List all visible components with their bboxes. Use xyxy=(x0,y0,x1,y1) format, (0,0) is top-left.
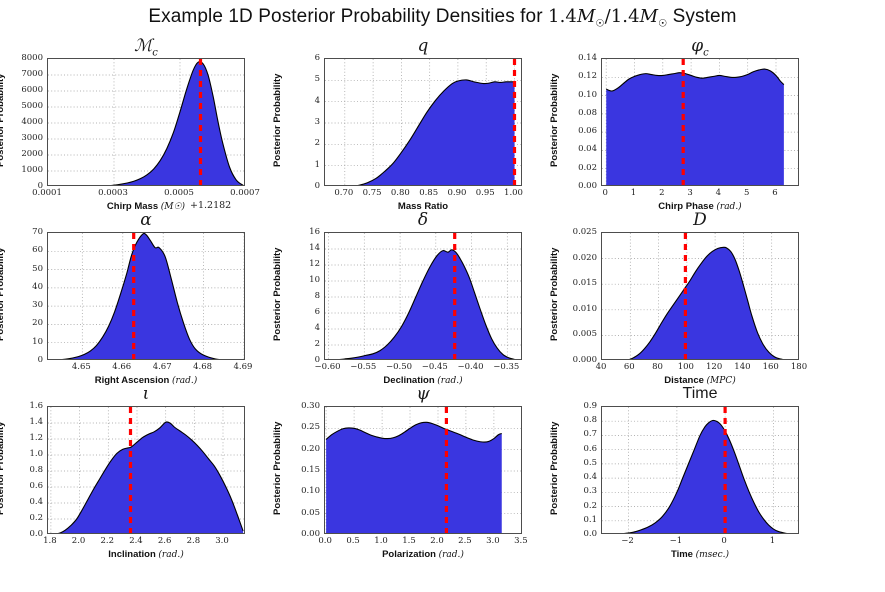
x-tick-label: 0.5 xyxy=(346,536,360,546)
x-tick-label: −0.60 xyxy=(315,362,341,372)
x-axis-label: Right Ascension (rad.) xyxy=(47,375,245,386)
y-tick-label: 0.4 xyxy=(559,472,597,482)
x-tick-label: 40 xyxy=(596,362,607,372)
y-tick-label: 0.7 xyxy=(559,429,597,439)
x-tick-label: 60 xyxy=(624,362,635,372)
y-tick-label: 1 xyxy=(282,160,320,170)
x-axis-label: Inclination (rad.) xyxy=(47,549,245,560)
plot-area xyxy=(47,58,245,186)
y-tick-label: 0.05 xyxy=(282,508,320,518)
x-tick-label: 120 xyxy=(706,362,722,372)
x-tick-label: 1 xyxy=(770,536,775,546)
y-tick-label: 0.9 xyxy=(559,401,597,411)
x-axis-label: Mass Ratio xyxy=(324,201,522,212)
x-tick-label: 0 xyxy=(603,188,608,198)
y-tick-label: 0.06 xyxy=(559,126,597,136)
y-axis-label: Posterior Probability xyxy=(549,248,560,341)
x-tick-label: 4.65 xyxy=(72,362,91,372)
x-tick-label: −0.40 xyxy=(458,362,484,372)
plot-area xyxy=(324,58,522,186)
y-tick-label: 1.6 xyxy=(5,401,43,411)
y-tick-label: 0.010 xyxy=(559,304,597,314)
x-tick-label: 0.0007 xyxy=(230,188,260,198)
x-tick-label: 4.67 xyxy=(153,362,172,372)
x-axis-label: Distance (MPC) xyxy=(601,375,799,386)
y-tick-label: 0.30 xyxy=(282,401,320,411)
plot-area xyxy=(324,232,522,360)
y-tick-label: 0.04 xyxy=(559,144,597,154)
x-tick-label: 3.5 xyxy=(514,536,528,546)
panel-title: Time xyxy=(601,386,799,402)
y-tick-label: 0 xyxy=(5,181,43,191)
figure-canvas: Example 1D Posterior Probability Densiti… xyxy=(0,0,885,592)
y-tick-label: 40 xyxy=(5,282,43,292)
y-tick-label: 16 xyxy=(282,227,320,237)
y-tick-label: 0.2 xyxy=(5,513,43,523)
x-tick-label: 3 xyxy=(687,188,692,198)
y-tick-label: 0.12 xyxy=(559,71,597,81)
y-tick-label: 0.000 xyxy=(559,355,597,365)
x-tick-label: 4.68 xyxy=(193,362,212,372)
y-axis-label: Posterior Probability xyxy=(0,422,6,515)
y-tick-label: 0.25 xyxy=(282,422,320,432)
y-tick-label: 8000 xyxy=(5,53,43,63)
x-tick-label: 2.5 xyxy=(458,536,472,546)
x-tick-label: 6 xyxy=(772,188,777,198)
x-tick-label: 2.0 xyxy=(72,536,86,546)
x-tick-label: 2 xyxy=(659,188,664,198)
y-tick-label: 0.4 xyxy=(5,497,43,507)
y-tick-label: 0.6 xyxy=(5,481,43,491)
x-tick-label: −0.35 xyxy=(493,362,519,372)
panel-right-ascension: α0102030405060704.654.664.674.684.69Post… xyxy=(0,0,885,592)
x-tick-label: 160 xyxy=(763,362,779,372)
y-tick-label: 0.00 xyxy=(559,181,597,191)
y-tick-label: 0.15 xyxy=(282,465,320,475)
x-tick-label: 0.90 xyxy=(447,188,466,198)
x-tick-label: 100 xyxy=(678,362,694,372)
panel-declination: δ0246810121416−0.60−0.55−0.50−0.45−0.40−… xyxy=(0,0,885,592)
y-axis-label: Posterior Probability xyxy=(272,74,283,167)
y-tick-label: 0.0 xyxy=(5,529,43,539)
y-tick-label: 0.02 xyxy=(559,163,597,173)
y-tick-label: 0 xyxy=(282,355,320,365)
panel-title: D xyxy=(601,212,799,229)
y-tick-label: 0.020 xyxy=(559,253,597,263)
y-axis-label: Posterior Probability xyxy=(272,422,283,515)
panel-title: ℳc xyxy=(47,38,245,58)
plot-area xyxy=(601,232,799,360)
x-tick-label: 2.4 xyxy=(129,536,143,546)
y-tick-label: 0.0 xyxy=(559,529,597,539)
y-axis-label: Posterior Probability xyxy=(549,74,560,167)
y-tick-label: 0.015 xyxy=(559,278,597,288)
x-tick-label: 1.8 xyxy=(43,536,57,546)
y-tick-label: 1.2 xyxy=(5,433,43,443)
x-tick-label: 2.6 xyxy=(158,536,172,546)
panel-title: ι xyxy=(47,386,245,403)
figure-title-post: System xyxy=(667,6,736,27)
x-tick-label: 80 xyxy=(652,362,663,372)
x-tick-label: 0.80 xyxy=(391,188,410,198)
y-tick-label: 0.10 xyxy=(559,90,597,100)
x-tick-label: 0.95 xyxy=(476,188,495,198)
y-tick-label: 1.4 xyxy=(5,417,43,427)
y-tick-label: 0 xyxy=(282,181,320,191)
x-tick-label: 2.2 xyxy=(100,536,114,546)
y-tick-label: 5000 xyxy=(5,101,43,111)
panel-time: Time0.00.10.20.30.40.50.60.70.80.9−2−101… xyxy=(0,0,885,592)
y-tick-label: 70 xyxy=(5,227,43,237)
x-tick-label: −0.55 xyxy=(350,362,376,372)
y-tick-label: 0.6 xyxy=(559,444,597,454)
y-tick-label: 0.3 xyxy=(559,486,597,496)
plot-area xyxy=(47,232,245,360)
y-tick-label: 0.2 xyxy=(559,501,597,511)
y-tick-label: 0.00 xyxy=(282,529,320,539)
panel-chirp-phase: φc0.000.020.040.060.080.100.120.14012345… xyxy=(0,0,885,592)
x-tick-label: −2 xyxy=(621,536,634,546)
x-tick-label: 4 xyxy=(716,188,721,198)
x-tick-label: 0.70 xyxy=(334,188,353,198)
panel-title: δ xyxy=(324,212,522,229)
y-tick-label: 0.14 xyxy=(559,53,597,63)
panel-polarization: ψ0.000.050.100.150.200.250.300.00.51.01.… xyxy=(0,0,885,592)
y-tick-label: 4 xyxy=(282,96,320,106)
y-tick-label: 1000 xyxy=(5,165,43,175)
y-tick-label: 2 xyxy=(282,339,320,349)
x-tick-label: 3.0 xyxy=(215,536,229,546)
y-tick-label: 12 xyxy=(282,259,320,269)
plot-area xyxy=(324,406,522,534)
x-tick-label: 0.0005 xyxy=(164,188,194,198)
x-axis-label: Time (msec.) xyxy=(601,549,799,560)
panel-title: α xyxy=(47,212,245,229)
x-axis-label: Chirp Mass (M☉) xyxy=(47,201,245,212)
y-tick-label: 0.005 xyxy=(559,329,597,339)
x-tick-label: 1 xyxy=(631,188,636,198)
panel-title: ψ xyxy=(324,386,522,403)
x-tick-label: 1.0 xyxy=(374,536,388,546)
y-tick-label: 3000 xyxy=(5,133,43,143)
panel-title: q xyxy=(324,38,522,55)
y-tick-label: 1.0 xyxy=(5,449,43,459)
y-tick-label: 14 xyxy=(282,243,320,253)
y-tick-label: 60 xyxy=(5,245,43,255)
y-tick-label: 0.10 xyxy=(282,486,320,496)
x-tick-label: 0.85 xyxy=(419,188,438,198)
y-tick-label: 0.025 xyxy=(559,227,597,237)
panel-chirp-mass: ℳc0100020003000400050006000700080000.000… xyxy=(0,0,885,592)
x-tick-label: 0.0001 xyxy=(32,188,62,198)
y-tick-label: 4000 xyxy=(5,117,43,127)
y-tick-label: 6 xyxy=(282,53,320,63)
x-tick-label: 4.66 xyxy=(112,362,131,372)
panel-title: φc xyxy=(601,38,799,58)
plot-area xyxy=(601,406,799,534)
panel-distance: D0.0000.0050.0100.0150.0200.025406080100… xyxy=(0,0,885,592)
y-tick-label: 8 xyxy=(282,291,320,301)
y-tick-label: 0.8 xyxy=(559,415,597,425)
y-tick-label: 4 xyxy=(282,323,320,333)
plot-area xyxy=(601,58,799,186)
figure-title: Example 1D Posterior Probability Densiti… xyxy=(0,6,885,30)
y-axis-label: Posterior Probability xyxy=(0,248,6,341)
y-tick-label: 30 xyxy=(5,300,43,310)
x-axis-offset: +1.2182 xyxy=(190,200,231,211)
y-axis-label: Posterior Probability xyxy=(272,248,283,341)
x-tick-label: 2.0 xyxy=(430,536,444,546)
y-tick-label: 2000 xyxy=(5,149,43,159)
panel-mass-ratio: q01234560.700.750.800.850.900.951.00Post… xyxy=(0,0,885,592)
x-tick-label: −0.50 xyxy=(386,362,412,372)
y-tick-label: 50 xyxy=(5,264,43,274)
x-tick-label: −1 xyxy=(670,536,683,546)
y-tick-label: 0 xyxy=(5,355,43,365)
x-tick-label: 1.5 xyxy=(402,536,416,546)
y-tick-label: 0.5 xyxy=(559,458,597,468)
y-tick-label: 2 xyxy=(282,138,320,148)
y-tick-label: 10 xyxy=(5,337,43,347)
y-tick-label: 3 xyxy=(282,117,320,127)
x-tick-label: 180 xyxy=(791,362,807,372)
x-axis-label: Polarization (rad.) xyxy=(324,549,522,560)
y-tick-label: 6 xyxy=(282,307,320,317)
x-tick-label: 0.0 xyxy=(318,536,332,546)
y-tick-label: 5 xyxy=(282,74,320,84)
x-tick-label: 4.69 xyxy=(234,362,253,372)
plot-area xyxy=(47,406,245,534)
figure-title-math: 1.4M☉/1.4M☉ xyxy=(548,6,667,27)
x-tick-label: 2.8 xyxy=(187,536,201,546)
x-axis-label: Declination (rad.) xyxy=(324,375,522,386)
y-tick-label: 7000 xyxy=(5,69,43,79)
x-tick-label: 0.75 xyxy=(363,188,382,198)
y-tick-label: 0.20 xyxy=(282,444,320,454)
x-tick-label: 0 xyxy=(721,536,726,546)
y-tick-label: 0.8 xyxy=(5,465,43,475)
x-axis-label: Chirp Phase (rad.) xyxy=(601,201,799,212)
y-tick-label: 0.08 xyxy=(559,108,597,118)
x-tick-label: 5 xyxy=(744,188,749,198)
panel-inclination: ι0.00.20.40.60.81.01.21.41.61.82.02.22.4… xyxy=(0,0,885,592)
y-tick-label: 0.1 xyxy=(559,515,597,525)
x-tick-label: 140 xyxy=(734,362,750,372)
x-tick-label: −0.45 xyxy=(422,362,448,372)
x-tick-label: 0.0003 xyxy=(98,188,128,198)
y-axis-label: Posterior Probability xyxy=(0,74,6,167)
y-axis-label: Posterior Probability xyxy=(549,422,560,515)
y-tick-label: 10 xyxy=(282,275,320,285)
figure-title-pre: Example 1D Posterior Probability Densiti… xyxy=(148,6,548,27)
y-tick-label: 6000 xyxy=(5,85,43,95)
x-tick-label: 1.00 xyxy=(504,188,523,198)
y-tick-label: 20 xyxy=(5,318,43,328)
x-tick-label: 3.0 xyxy=(486,536,500,546)
